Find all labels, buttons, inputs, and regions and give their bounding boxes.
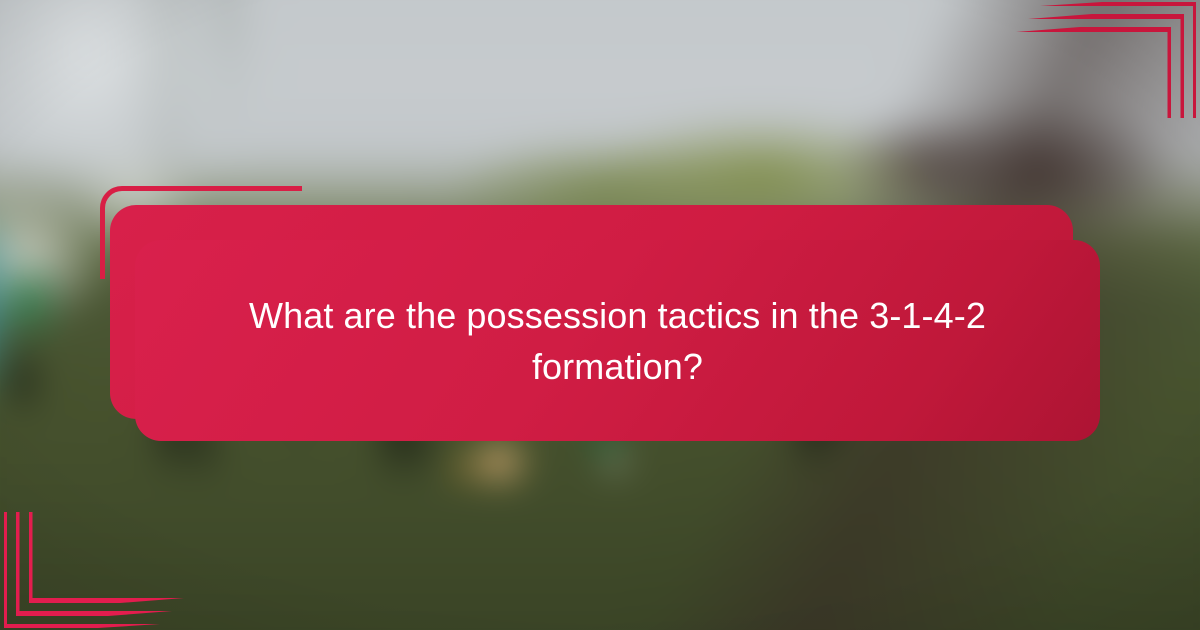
question-text: What are the possession tactics in the 3… [135,240,1100,441]
screenshot-stage: What are the possession tactics in the 3… [0,0,1200,630]
